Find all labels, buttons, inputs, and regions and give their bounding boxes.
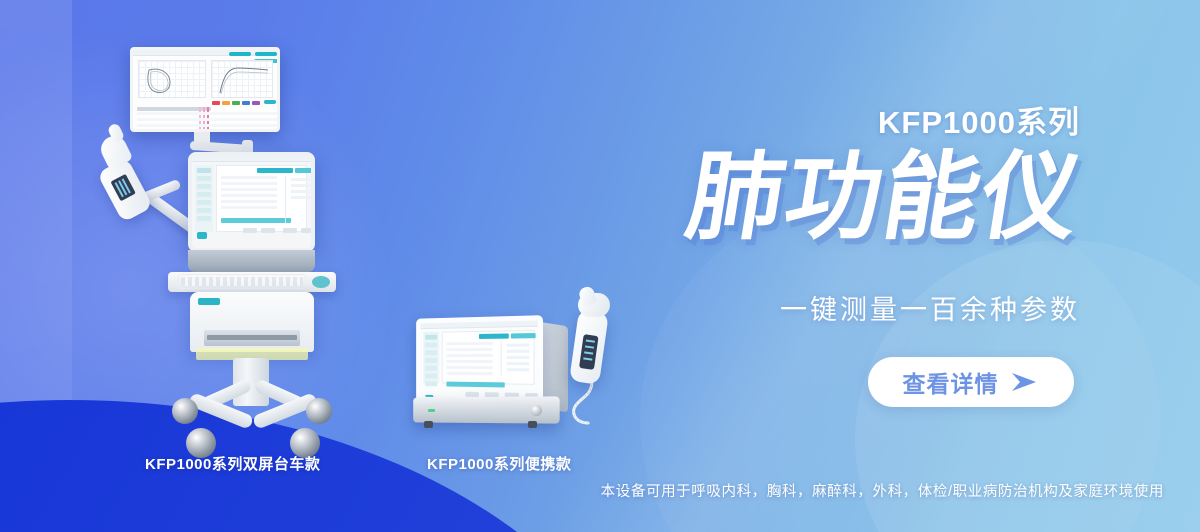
flow-volume-chart <box>138 60 206 98</box>
portable-screen <box>416 315 543 405</box>
portable-foot <box>424 421 433 428</box>
view-details-label: 查看详情 <box>903 365 999 399</box>
sidebar-item[interactable] <box>425 358 437 363</box>
screen-action-pill-1 <box>229 52 251 56</box>
hero-subtitle: 一键测量一百余种参数 <box>0 288 1080 327</box>
detail-row <box>507 362 530 365</box>
mouse <box>312 276 330 288</box>
portable-content <box>442 330 535 385</box>
power-led <box>428 409 435 412</box>
sidebar-item[interactable] <box>425 366 437 371</box>
table-row[interactable] <box>446 342 492 345</box>
table-row[interactable] <box>446 348 492 351</box>
detail-row <box>507 368 530 371</box>
portable-dial <box>531 405 542 416</box>
table-row[interactable] <box>446 354 492 357</box>
portable-foot <box>528 421 537 428</box>
sidebar-item[interactable] <box>425 335 437 340</box>
sidebar-item[interactable] <box>425 381 437 386</box>
detail-row <box>507 356 530 359</box>
portable-sidebar <box>423 332 439 384</box>
usage-note: 本设备可用于呼吸内科，胸科，麻醉科，外科，体检/职业病防治机构及家庭环境使用 <box>0 480 1164 501</box>
screen-action-pill-2 <box>255 52 277 56</box>
background-left-band <box>0 0 72 532</box>
sidebar-item[interactable] <box>425 350 437 355</box>
table-header-b <box>511 333 536 339</box>
caster-wheel <box>172 398 198 424</box>
table-row[interactable] <box>446 366 492 369</box>
caster-wheel <box>306 398 332 424</box>
caption-portable: KFP1000系列便携款 <box>427 453 571 474</box>
sidebar-item[interactable] <box>425 342 437 347</box>
printer-slot <box>207 335 297 340</box>
product-banner: KFP1000系列双屏台车款 KFP1000系列便携款 KFP1000系列 肺功… <box>0 0 1200 532</box>
view-details-button[interactable]: 查看详情 <box>868 357 1074 407</box>
table-row[interactable] <box>446 372 492 375</box>
caption-trolley: KFP1000系列双屏台车款 <box>145 453 320 474</box>
volume-time-curve <box>212 61 274 99</box>
keyboard-keys <box>181 277 303 286</box>
volume-time-chart <box>211 60 273 98</box>
table-selected-row[interactable] <box>446 382 504 388</box>
arrow-right-icon <box>1010 371 1040 393</box>
table-row[interactable] <box>446 360 492 363</box>
printer-module <box>204 330 300 346</box>
hero-eyebrow: KFP1000系列 <box>0 97 1080 142</box>
handle-display <box>579 334 599 370</box>
keyboard <box>178 274 306 289</box>
page-title: 肺功能仪 <box>0 142 1089 254</box>
detail-row <box>507 350 530 353</box>
detail-row <box>507 343 530 346</box>
sidebar-item[interactable] <box>425 374 437 379</box>
flow-volume-curve <box>139 61 207 99</box>
table-header-a <box>479 333 509 339</box>
panel-divider <box>501 342 502 376</box>
